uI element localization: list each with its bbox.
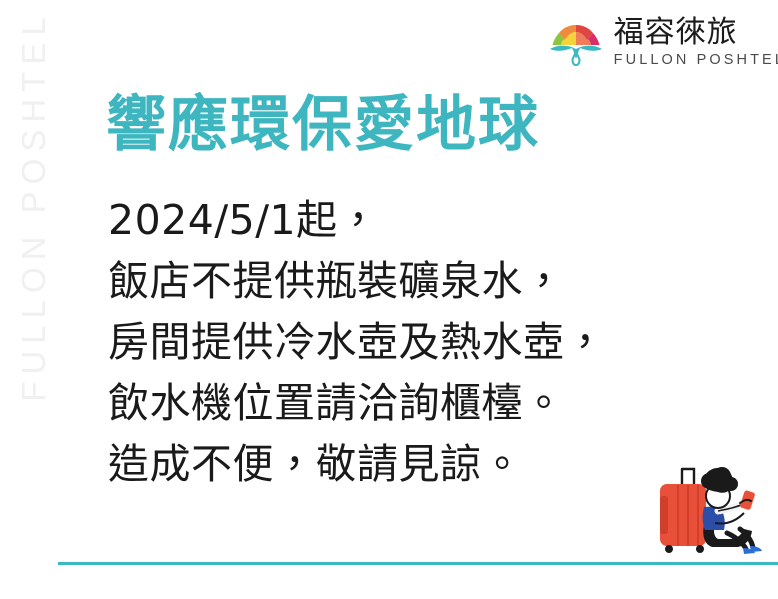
notice-body: 2024/5/1起， 飯店不提供瓶裝礦泉水， 房間提供冷水壺及熱水壺， 飲水機位… xyxy=(108,190,688,495)
notice-line: 造成不便，敬請見諒。 xyxy=(108,434,688,495)
notice-line: 2024/5/1起， xyxy=(108,190,688,251)
fullon-umbrella-logo-icon xyxy=(547,18,605,68)
notice-line: 飲水機位置請洽詢櫃檯。 xyxy=(108,373,688,434)
brand-name-en: FULLON POSHTEL xyxy=(614,53,778,68)
brand-logo: 福容徠旅 FULLON POSHTEL xyxy=(547,18,778,68)
page-title: 響應環保愛地球 xyxy=(106,92,540,159)
brand-wordmark: 福容徠旅 FULLON POSHTEL xyxy=(614,18,778,68)
vertical-brand-watermark: FULLON POSHTEL xyxy=(12,0,56,416)
bottom-divider xyxy=(58,562,778,565)
notice-line: 房間提供冷水壺及熱水壺， xyxy=(108,312,688,373)
notice-poster: FULLON POSHTEL 福容徠旅 FULLON POSHTEL 響應環保 xyxy=(0,0,778,599)
notice-line: 飯店不提供瓶裝礦泉水， xyxy=(108,251,688,312)
brand-name-cn: 福容徠旅 xyxy=(614,18,778,48)
